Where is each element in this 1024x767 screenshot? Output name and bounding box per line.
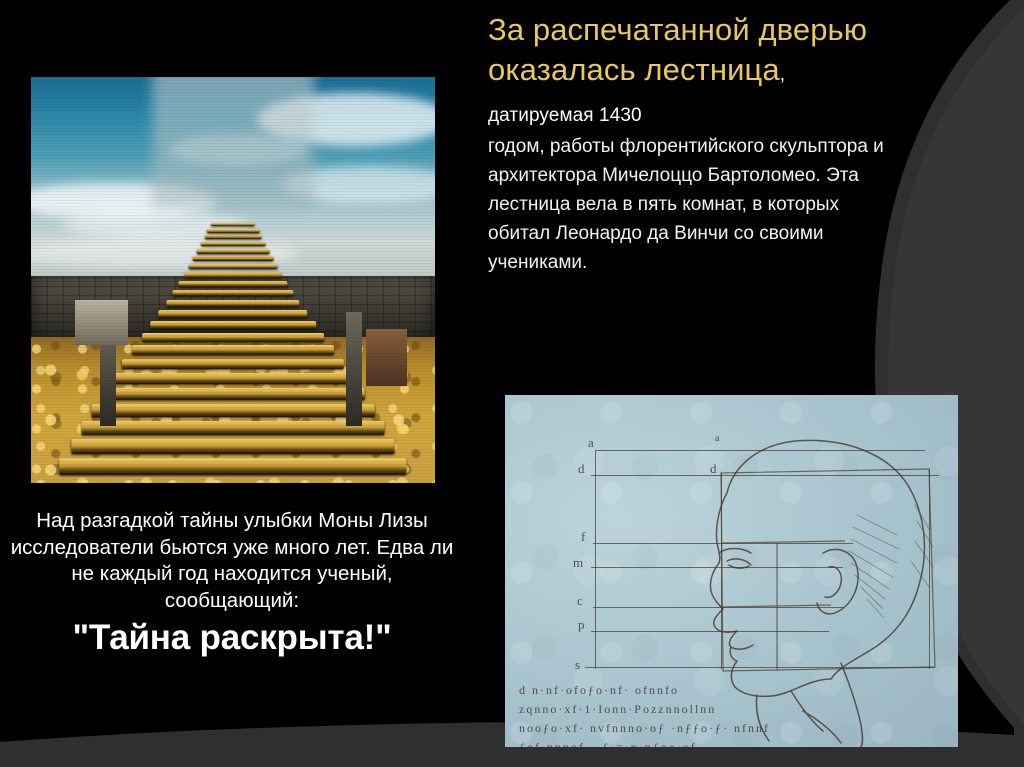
- slide-headline: За распечатанной дверью оказалась лестни…: [488, 10, 892, 131]
- text-column: За распечатанной дверью оказалась лестни…: [488, 10, 892, 277]
- headline-gold-text: За распечатанной дверью оказалась лестни…: [488, 12, 867, 87]
- mirror-note-line: zqnno·xf·1·Ionn·Pozznnollnn: [519, 702, 819, 717]
- photo-grain: [31, 77, 435, 483]
- slide-body-paragraph: годом, работы флорентийского скульптора …: [488, 132, 892, 277]
- mirror-note-line: ƒof·nnnof· ·ƒ·=·n·nƒoo·of: [519, 740, 819, 747]
- mona-lisa-caption: Над разгадкой тайны улыбки Моны Лизы исс…: [6, 508, 458, 659]
- davinci-head-proportions-sketch: a d f m c p s a d: [505, 395, 958, 747]
- mirror-note-line: d n·nf·ofoƒo·nf· ofnnfo: [519, 683, 819, 698]
- caption-paragraph: Над разгадкой тайны улыбки Моны Лизы исс…: [6, 508, 458, 615]
- caption-shout: "Тайна раскрыта!": [6, 617, 458, 660]
- mirror-writing-block: d n·nf·ofoƒo·nf· ofnnfo zqnno·xf·1·Ionn·…: [519, 683, 819, 743]
- golden-staircase-photo: [31, 77, 435, 483]
- mirror-note-line: nooƒo·xf· nvfnnno·oƒ ·nƒƒo·ƒ· nfnnf: [519, 721, 819, 736]
- slide-canvas: a d f m c p s a d: [0, 0, 1024, 767]
